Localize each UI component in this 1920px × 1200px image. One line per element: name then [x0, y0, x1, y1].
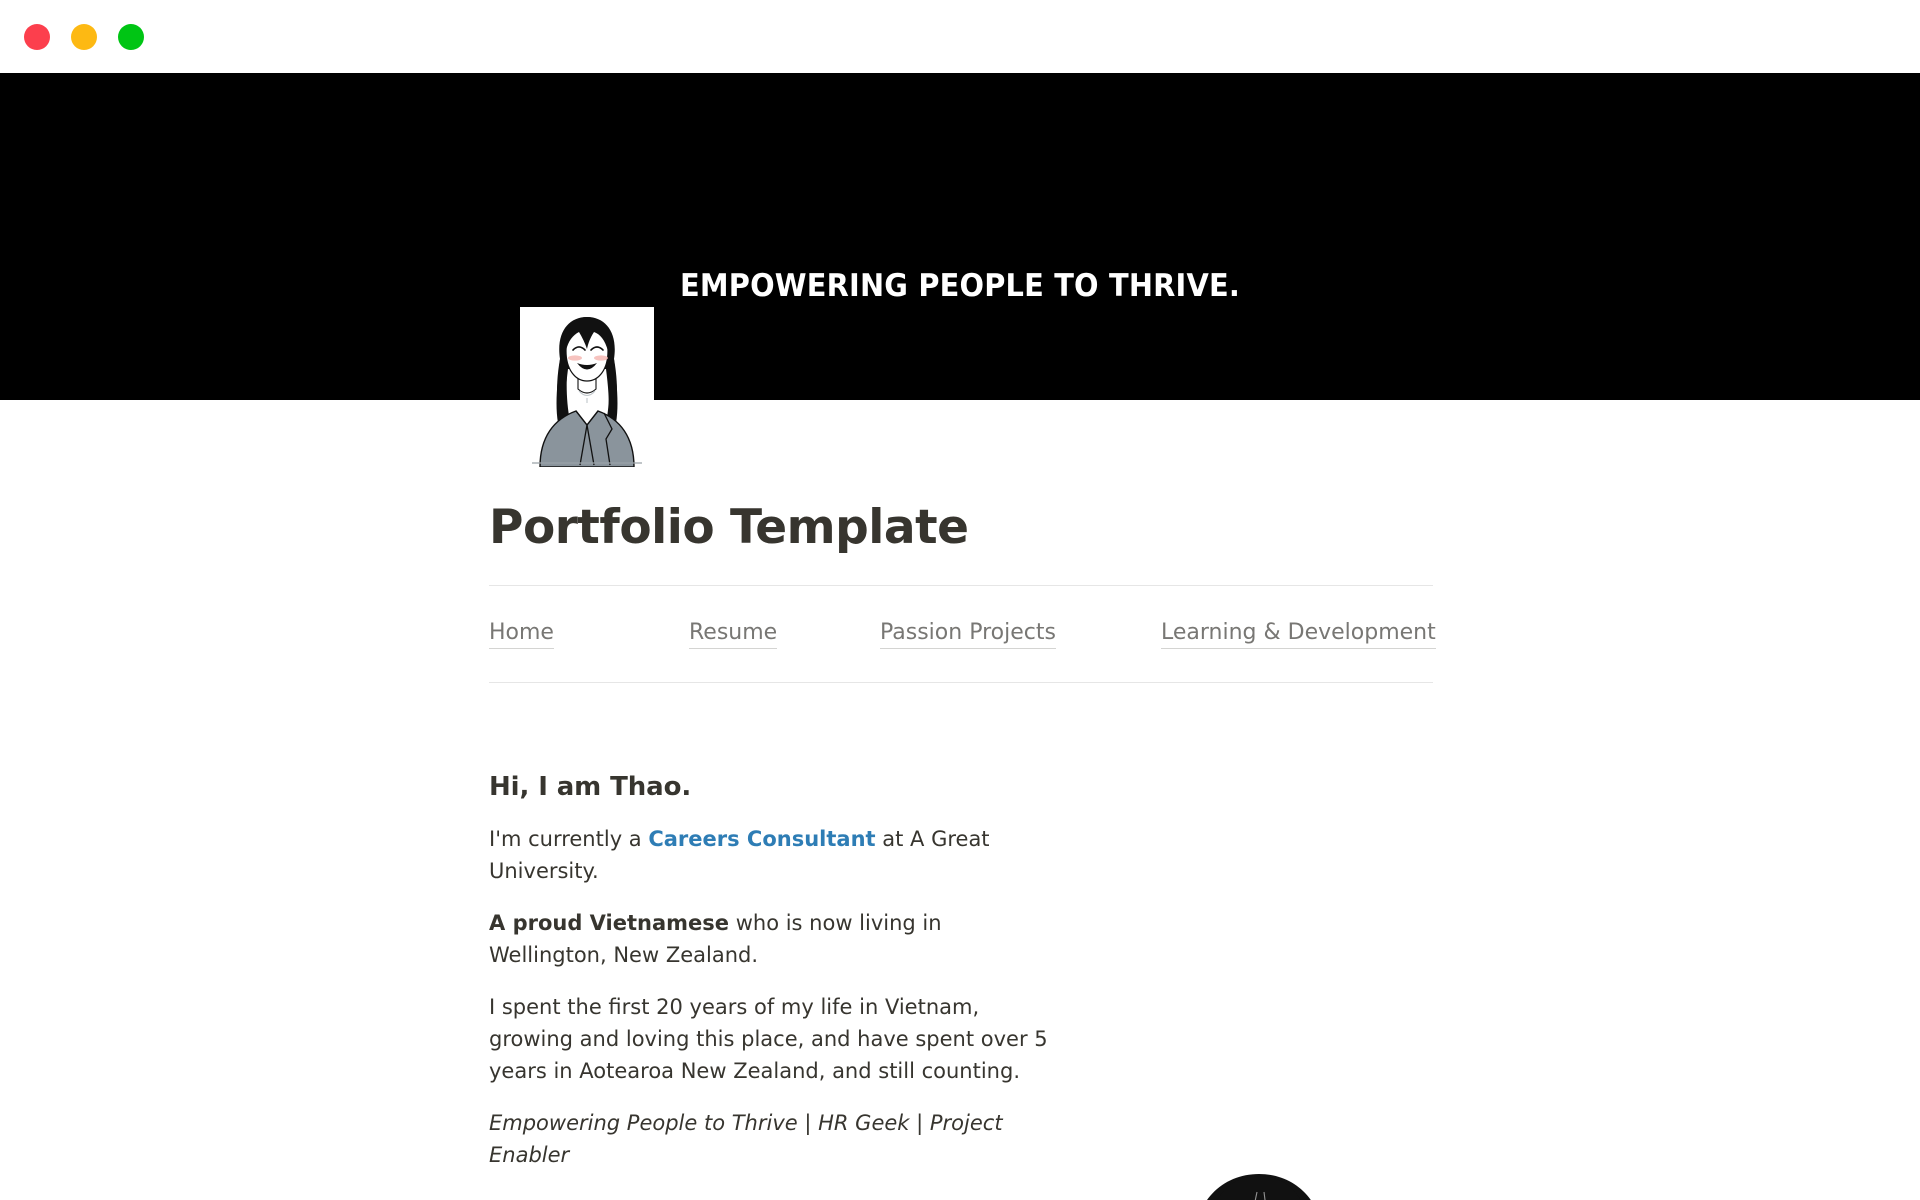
hero-banner: EMPOWERING PEOPLE TO THRIVE. — [0, 73, 1920, 400]
intro-role-prefix: I'm currently a — [489, 827, 648, 851]
careers-consultant-link[interactable]: Careers Consultant — [648, 827, 875, 851]
traffic-light-controls — [24, 24, 144, 50]
nav-item-home[interactable]: Home — [489, 620, 554, 649]
divider-below-nav — [489, 682, 1433, 683]
nav-item-learning-and-development[interactable]: Learning & Development — [1161, 620, 1436, 649]
minimize-window-button[interactable] — [71, 24, 97, 50]
intro-origin-bold: A proud Vietnamese — [489, 911, 729, 935]
page-title: Portfolio Template — [489, 500, 968, 555]
intro-paragraph-history: I spent the first 20 years of my life in… — [489, 991, 1049, 1087]
intro-tagline: Empowering People to Thrive | HR Geek | … — [489, 1107, 1049, 1171]
intro-paragraph-role: I'm currently a Careers Consultant at A … — [489, 823, 1049, 887]
app-window: EMPOWERING PEOPLE TO THRIVE. — [0, 0, 1920, 1200]
intro-section: Hi, I am Thao. I'm currently a Careers C… — [489, 772, 1049, 1191]
divider-above-nav — [489, 585, 1433, 586]
primary-navigation: Home Resume Passion Projects Learning & … — [489, 620, 1433, 660]
window-titlebar — [0, 0, 1920, 73]
maximize-window-button[interactable] — [118, 24, 144, 50]
nav-item-passion-projects[interactable]: Passion Projects — [880, 620, 1056, 649]
intro-paragraph-origin: A proud Vietnamese who is now living in … — [489, 907, 1049, 971]
hero-tagline: EMPOWERING PEOPLE TO THRIVE. — [67, 268, 1853, 304]
profile-illustration-icon — [1124, 1162, 1394, 1200]
nav-item-resume[interactable]: Resume — [689, 620, 777, 649]
close-window-button[interactable] — [24, 24, 50, 50]
avatar-illustration-icon — [520, 307, 654, 467]
avatar — [520, 307, 654, 467]
intro-heading: Hi, I am Thao. — [489, 772, 1049, 802]
